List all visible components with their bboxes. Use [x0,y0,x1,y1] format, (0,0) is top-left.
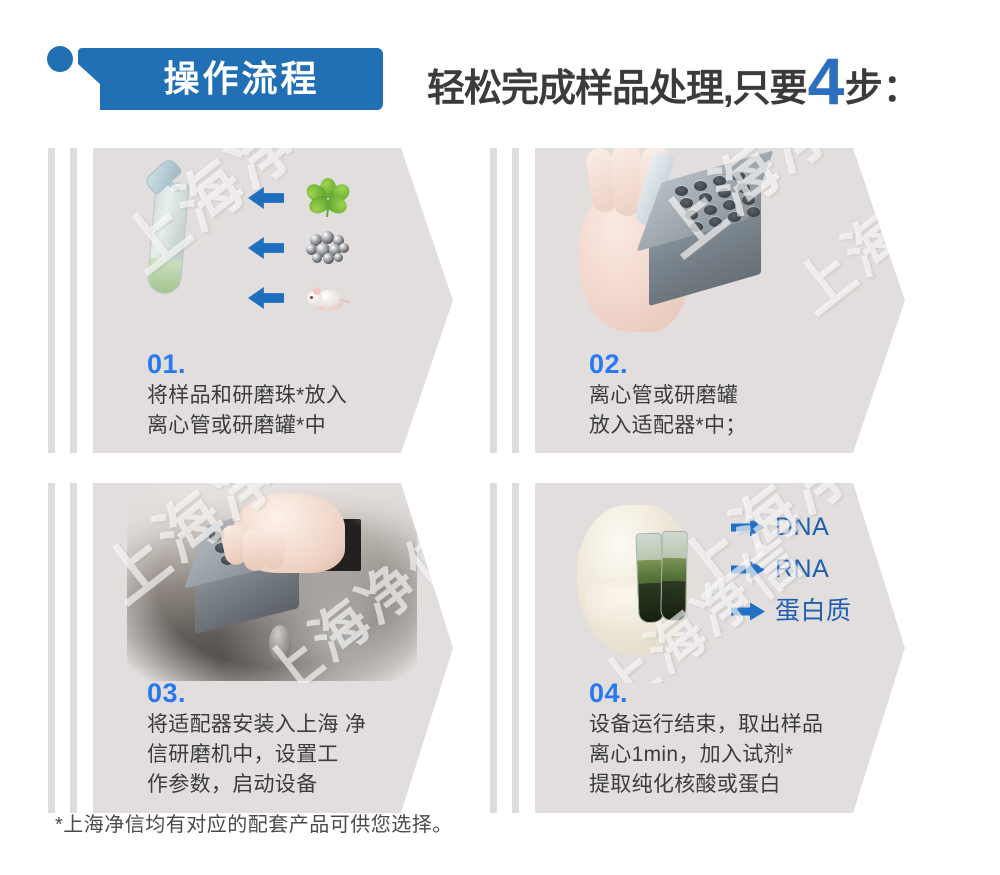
step-number: 02. [589,350,889,378]
step-card-04: DNA RNA 蛋白质 上海净信 上海净信 04. 设备运行结束，取出样品 离心… [490,483,905,813]
card-accent-bar [512,483,519,813]
leaf-sample-icon [306,178,352,218]
card-accent-bar [70,148,77,453]
arrow-right-icon [731,519,765,537]
headline-after: 步： [845,57,921,112]
step-number: 03. [147,679,447,707]
step-card-03: 上海净信 上海净信 03. 将适配器安装入上海 净 信研磨机中，设置工 作参数，… [48,483,453,813]
arrow-left-icon [248,287,284,309]
arrow-left-icon [248,237,284,259]
hand-with-tube-and-adapter [579,148,729,342]
headline-before: 轻松完成样品处理,只要 [427,57,807,112]
circle-dot-icon [47,46,73,72]
step-card-body: 上海净信 上海净信 03. 将适配器安装入上海 净 信研磨机中，设置工 作参数，… [93,483,453,813]
arrow-right-icon [731,603,765,621]
watermark: 上海净信 [100,148,371,290]
centrifuge-tube-icon [145,166,191,296]
result-label: RNA [775,557,829,582]
sample-vial [660,531,688,621]
step-card-body: 上海净信 01. 将样品和研磨珠*放入 离心管或研磨罐*中 [93,148,453,453]
step-04-text: 04. 设备运行结束，取出样品 离心1min，加入试剂* 提取纯化核酸或蛋白 [589,679,905,800]
step-card-body: 上海净信 上海净信 02. 离心管或研磨罐 放入适配器*中； [535,148,905,453]
card-accent-bar [48,148,55,453]
grinding-beads-icon [306,228,352,268]
card-accent-bar [512,148,519,453]
page-header: 操作流程 轻松完成样品处理,只要 4 步： [0,0,1000,130]
sample-row-beads [248,228,352,268]
step-card-02: 上海净信 上海净信 02. 离心管或研磨罐 放入适配器*中； [490,148,905,453]
gloved-hand-holding-vials [577,491,727,669]
card-accent-bar [70,483,77,813]
card-accent-bar [490,148,497,453]
sample-row-leaf [248,178,352,218]
step-number: 04. [589,679,905,707]
result-item-protein: 蛋白质 [731,599,852,624]
step-description: 将样品和研磨珠*放入 离心管或研磨罐*中 [147,381,447,441]
sample-row-mouse [248,278,352,318]
step-02-text: 02. 离心管或研磨罐 放入适配器*中； [589,350,889,441]
step-02-photo: 上海净信 上海净信 [535,148,905,348]
result-item-rna: RNA [731,557,852,582]
step-card-body: DNA RNA 蛋白质 上海净信 上海净信 04. 设备运行结束，取出样品 离心… [535,483,905,813]
step-card-01: 上海净信 01. 将样品和研磨珠*放入 离心管或研磨罐*中 [48,148,453,453]
result-label: DNA [775,515,829,540]
step-description: 将适配器安装入上海 净 信研磨机中，设置工 作参数，启动设备 [147,710,447,800]
step-04-photo: DNA RNA 蛋白质 上海净信 上海净信 [535,483,905,683]
step-01-text: 01. 将样品和研磨珠*放入 离心管或研磨罐*中 [147,350,447,441]
footnote: *上海净信均有对应的配套产品可供您选择。 [55,808,453,837]
watermark: 上海净信 [773,148,905,329]
mouse-sample-icon [306,278,352,318]
step-description: 设备运行结束，取出样品 离心1min，加入试剂* 提取纯化核酸或蛋白 [589,710,905,800]
headline: 轻松完成样品处理,只要 4 步： [427,52,921,114]
headline-step-count: 4 [808,55,844,108]
arrow-right-icon [731,561,765,579]
arrow-left-icon [248,187,284,209]
card-accent-bar [48,483,55,813]
section-badge-title: 操作流程 [78,48,383,110]
step-description: 离心管或研磨罐 放入适配器*中； [589,381,889,441]
step-03-text: 03. 将适配器安装入上海 净 信研磨机中，设置工 作参数，启动设备 [147,679,447,800]
result-list: DNA RNA 蛋白质 [731,515,852,624]
step-03-photo: 上海净信 上海净信 [93,483,453,683]
grinder-machine-photo [127,485,417,681]
step-number: 01. [147,350,447,378]
step-01-illustration: 上海净信 [93,148,453,348]
card-accent-bar [490,483,497,813]
result-label: 蛋白质 [775,599,852,624]
result-item-dna: DNA [731,515,852,540]
